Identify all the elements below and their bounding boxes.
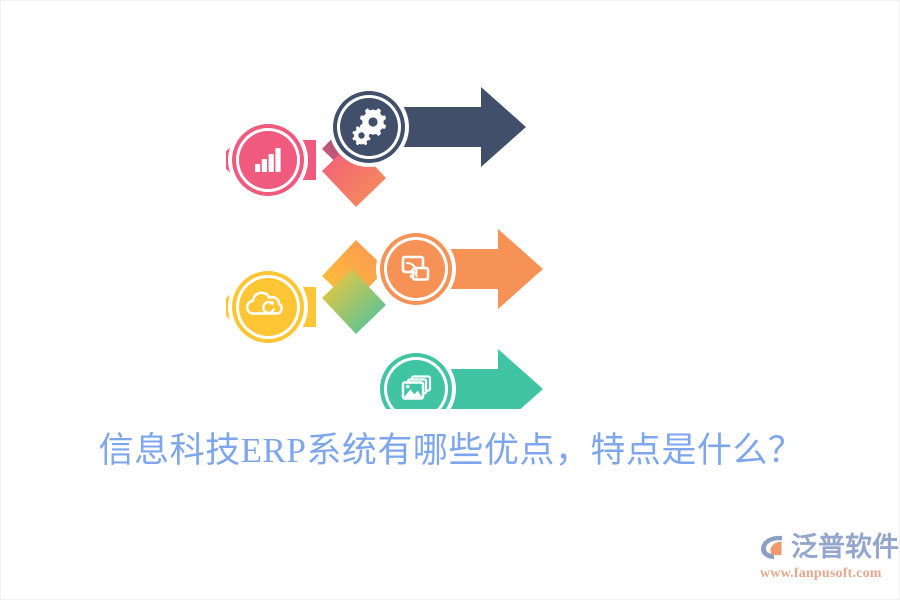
- node-gears[interactable]: [329, 87, 526, 167]
- infographic-zigzag-arrows: [226, 79, 556, 409]
- brand-name: 泛普软件: [791, 532, 899, 562]
- page-title: 信息科技ERP系统有哪些优点，特点是什么？: [1, 429, 900, 473]
- brand-logo[interactable]: 泛普软件 www.fanpusoft.com: [758, 529, 886, 585]
- node-screencast[interactable]: [376, 229, 543, 309]
- page-canvas: 信息科技ERP系统有哪些优点，特点是什么？ 泛普软件 www.fanpusoft…: [0, 0, 900, 600]
- node-cloud-sync[interactable]: [226, 267, 316, 347]
- node-gallery[interactable]: [376, 349, 543, 409]
- fanpu-logo-icon: [758, 532, 788, 562]
- brand-logo-row: 泛普软件: [758, 529, 899, 565]
- page-title-text: 信息科技ERP系统有哪些优点，特点是什么？: [99, 429, 804, 473]
- node-bar-chart-disc: [239, 131, 297, 189]
- brand-url: www.fanpusoft.com: [760, 566, 882, 582]
- node-bar-chart[interactable]: [226, 120, 316, 200]
